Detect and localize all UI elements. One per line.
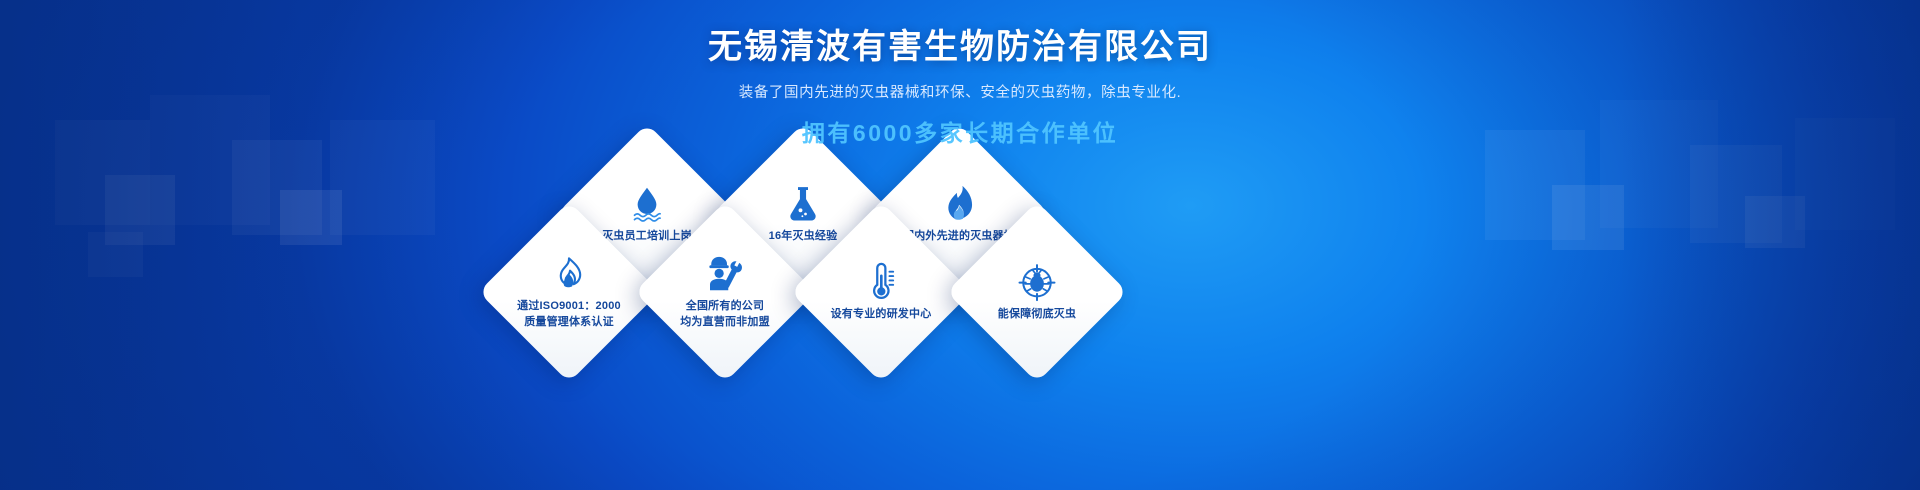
- banner-tagline: 拥有6000多家长期合作单位: [0, 119, 1920, 149]
- worker-wrench-icon: [705, 254, 745, 294]
- feature-card-label: 通过ISO9001：2000 质量管理体系认证: [517, 299, 621, 331]
- feature-card-content: 全国所有的公司 均为直营而非加盟: [661, 228, 789, 356]
- feature-card-content: 设有专业的研发中心: [817, 228, 945, 356]
- feature-card-label: 全国所有的公司 均为直营而非加盟: [680, 299, 770, 331]
- feature-card-content: 能保障彻底灭虫: [973, 228, 1101, 356]
- feature-card-direct-operation[interactable]: 全国所有的公司 均为直营而非加盟: [634, 201, 815, 382]
- feature-card-label: 设有专业的研发中心: [831, 307, 932, 323]
- flask-icon: [783, 184, 823, 224]
- feature-card-label: 能保障彻底灭虫: [998, 307, 1076, 323]
- water-drop-icon: [627, 184, 667, 224]
- flame-icon: [549, 254, 589, 294]
- feature-card-iso-certification[interactable]: 通过ISO9001：2000 质量管理体系认证: [478, 201, 659, 382]
- banner-headings: 无锡清波有害生物防治有限公司 装备了国内先进的灭虫器械和环保、安全的灭虫药物，除…: [0, 26, 1920, 149]
- page-title: 无锡清波有害生物防治有限公司: [0, 26, 1920, 69]
- bug-target-icon: [1017, 262, 1057, 302]
- banner-subtitle: 装备了国内先进的灭虫器械和环保、安全的灭虫药物，除虫专业化.: [0, 83, 1920, 103]
- promotional-banner: 无锡清波有害生物防治有限公司 装备了国内先进的灭虫器械和环保、安全的灭虫药物，除…: [0, 0, 1920, 490]
- feature-card-guaranteed-extermination[interactable]: 能保障彻底灭虫: [946, 201, 1127, 382]
- thermometer-icon: [861, 262, 901, 302]
- feature-card-content: 通过ISO9001：2000 质量管理体系认证: [505, 228, 633, 356]
- fire-icon: [939, 184, 979, 224]
- feature-card-rnd-center[interactable]: 设有专业的研发中心: [790, 201, 971, 382]
